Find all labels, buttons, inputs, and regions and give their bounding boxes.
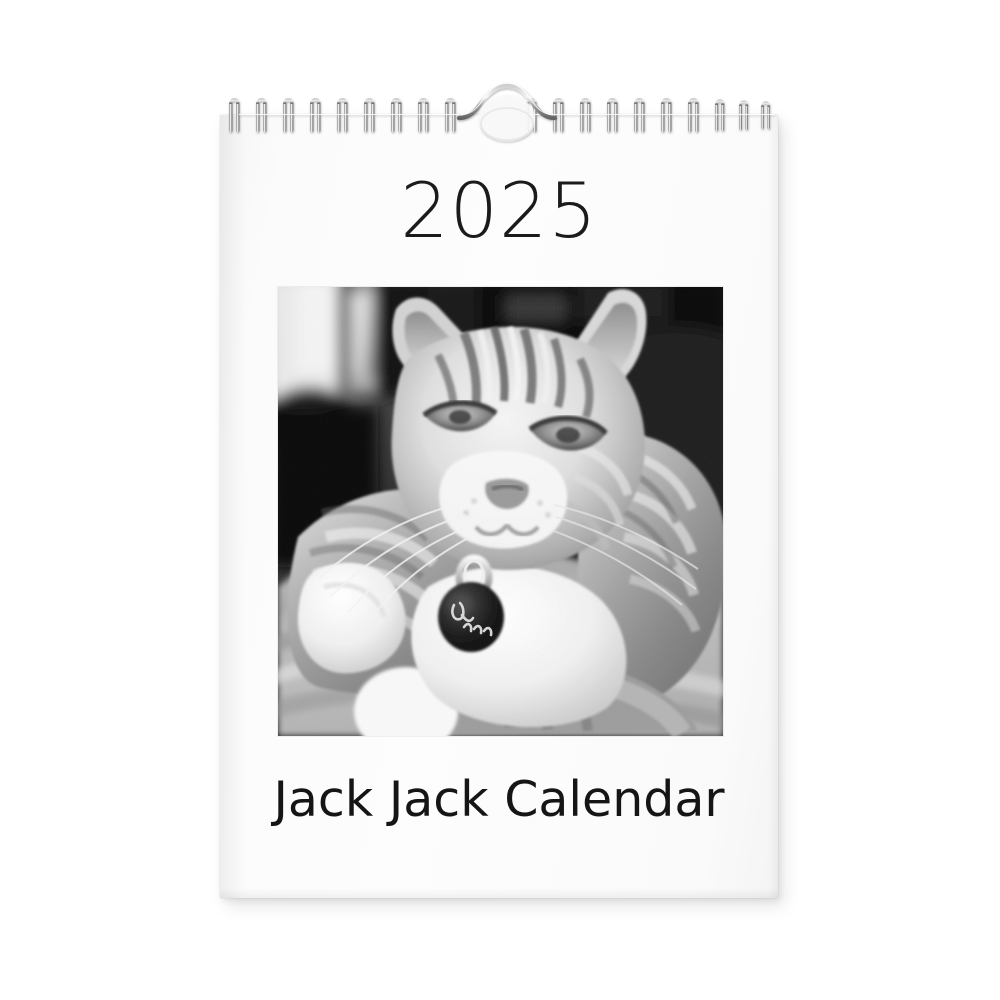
cat-photo-illustration: [278, 287, 723, 736]
calendar-page[interactable]: 2025: [220, 115, 778, 898]
page-bottom-edge-shading: [220, 888, 778, 898]
calendar-mockup-stage: 2025: [0, 0, 1000, 1000]
calendar-caption: Jack Jack Calendar: [220, 775, 778, 824]
cover-photo: [278, 287, 723, 736]
calendar-year-title: 2025: [220, 173, 778, 249]
